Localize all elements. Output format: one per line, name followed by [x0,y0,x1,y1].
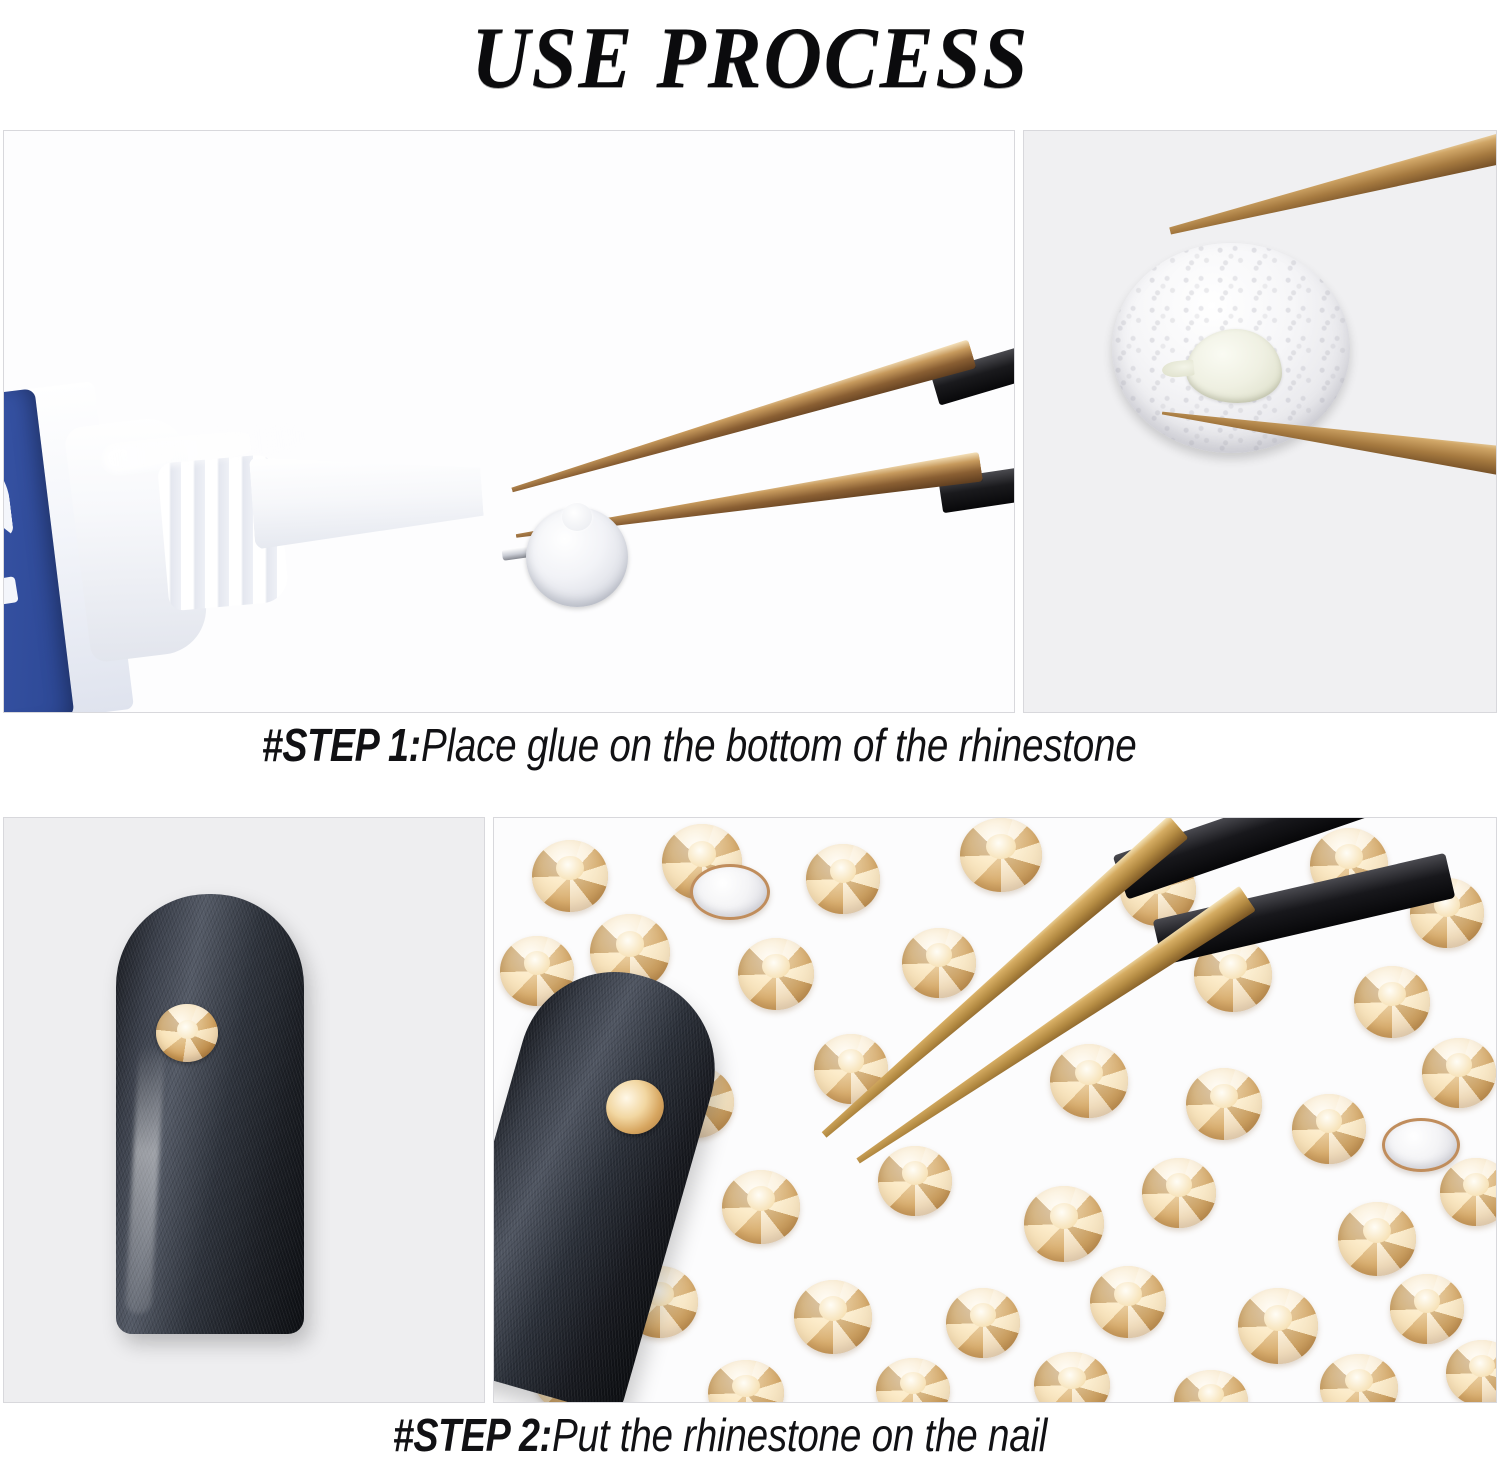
step-1-caption: #STEP 1:Place glue on the bottom of the … [0,718,1500,772]
rhinestone [1446,1340,1497,1403]
header: USE PROCESS [0,0,1500,118]
glue-blob [1186,329,1282,403]
page-title: USE PROCESS [471,15,1029,103]
tweezer-arm-upper [1166,130,1497,248]
rhinestone [532,840,608,912]
gold-tweezers-with-black-tips [824,817,1497,1310]
step-2-image-row [3,817,1497,1403]
step-2-label: #STEP 2: [393,1408,552,1462]
glue-bottle-nozzle-tip [249,448,485,550]
step-1-description: Place glue on the bottom of the rhinesto… [421,718,1136,772]
finished-nail-photo [3,817,485,1403]
step-2-description: Put the rhinestone on the nail [552,1408,1047,1462]
rhinestone-flipped-silver-back [690,864,770,920]
rhinestone [1320,1354,1398,1403]
rhinestone-flat-back [526,507,628,607]
rhinestone [738,938,814,1010]
rhinestone [722,1170,800,1244]
black-coffin-nail-tip [116,894,304,1334]
rhinestone [1034,1352,1110,1403]
rhinestone [876,1358,950,1403]
glue-bottle-and-tweezers-photo [3,130,1015,713]
applying-rhinestone-photo [493,817,1497,1403]
step-1-label: #STEP 1: [262,718,421,772]
rhinestone [708,1360,784,1403]
rhinestone-backside-closeup-photo [1023,130,1497,713]
black-coffin-nail-tip [493,949,737,1403]
nail-highlight [125,1044,165,1315]
champagne-rhinestone [156,1004,218,1062]
gold-tweezers [1084,157,1497,577]
glue-bottle [3,353,362,713]
step-2-caption: #STEP 2:Put the rhinestone on the nail [0,1408,1500,1462]
rose-gold-tweezers [502,309,1015,649]
step-1-image-row [3,130,1497,713]
rhinestone [1174,1370,1248,1403]
